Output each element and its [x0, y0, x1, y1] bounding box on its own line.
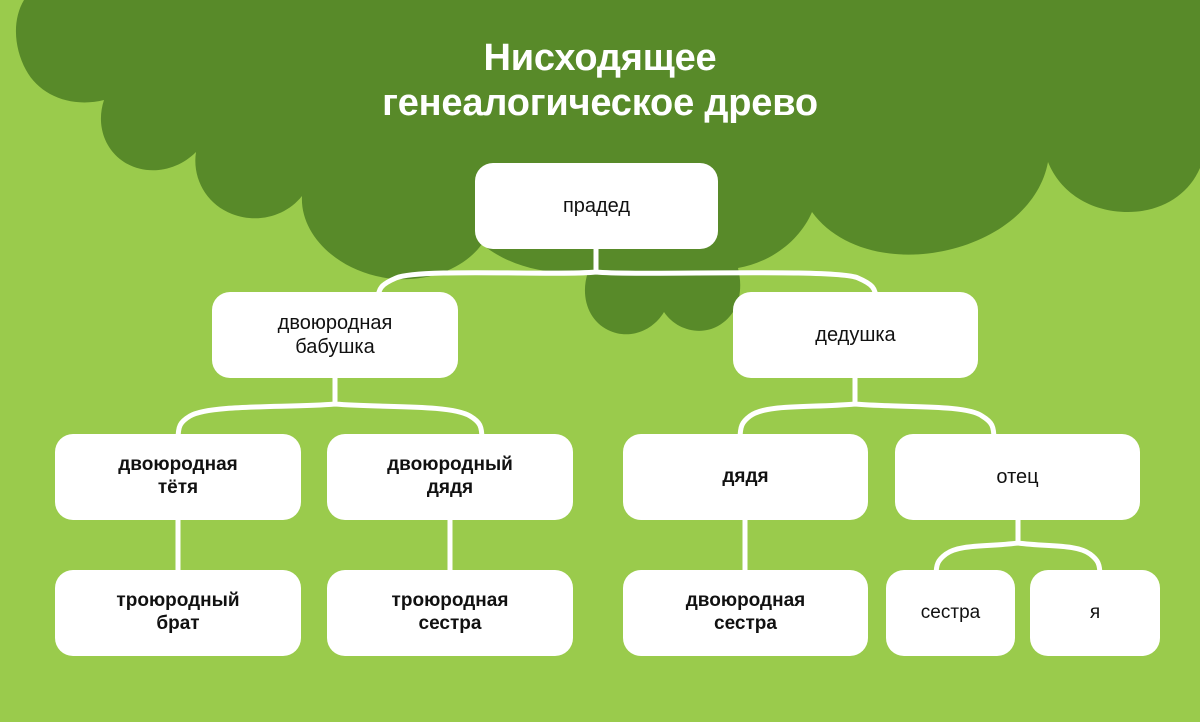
genealogy-tree-infographic: Нисходящее генеалогическое древо прадедд… [0, 0, 1200, 722]
tree-node-troyur-sestra[interactable]: троюродная сестра [327, 570, 573, 656]
connector-babushka-children [178, 378, 482, 440]
tree-node-label: двоюродный дядя [387, 454, 513, 500]
tree-node-label: прадед [563, 194, 630, 218]
tree-node-dedushka[interactable]: дедушка [733, 292, 978, 378]
tree-node-dyadya[interactable]: дядя [623, 434, 868, 520]
tree-node-dvoyur-tetya[interactable]: двоюродная тётя [55, 434, 301, 520]
tree-node-label: троюродный брат [116, 590, 239, 636]
tree-node-label: двоюродная тётя [118, 454, 237, 500]
connector-otets-children [936, 520, 1100, 576]
tree-node-label: двоюродная сестра [686, 590, 805, 636]
tree-node-label: дедушка [815, 323, 895, 347]
connector-dedushka-children [740, 378, 994, 440]
tree-node-dvoyur-sestra[interactable]: двоюродная сестра [623, 570, 868, 656]
tree-node-ya[interactable]: я [1030, 570, 1160, 656]
page-title: Нисходящее генеалогическое древо [0, 36, 1200, 126]
tree-node-label: отец [996, 465, 1038, 489]
tree-node-label: я [1090, 602, 1100, 625]
tree-node-sestra[interactable]: сестра [886, 570, 1015, 656]
tree-node-label: сестра [921, 602, 980, 625]
tree-node-otets[interactable]: отец [895, 434, 1140, 520]
tree-node-troyur-brat[interactable]: троюродный брат [55, 570, 301, 656]
tree-node-label: дядя [722, 466, 768, 489]
tree-node-label: троюродная сестра [392, 590, 509, 636]
tree-node-pradel[interactable]: прадед [475, 163, 718, 249]
tree-node-dvoyur-babushka[interactable]: двоюродная бабушка [212, 292, 458, 378]
tree-node-label: двоюродная бабушка [278, 311, 393, 359]
tree-node-dvoyur-dyadya[interactable]: двоюродный дядя [327, 434, 573, 520]
